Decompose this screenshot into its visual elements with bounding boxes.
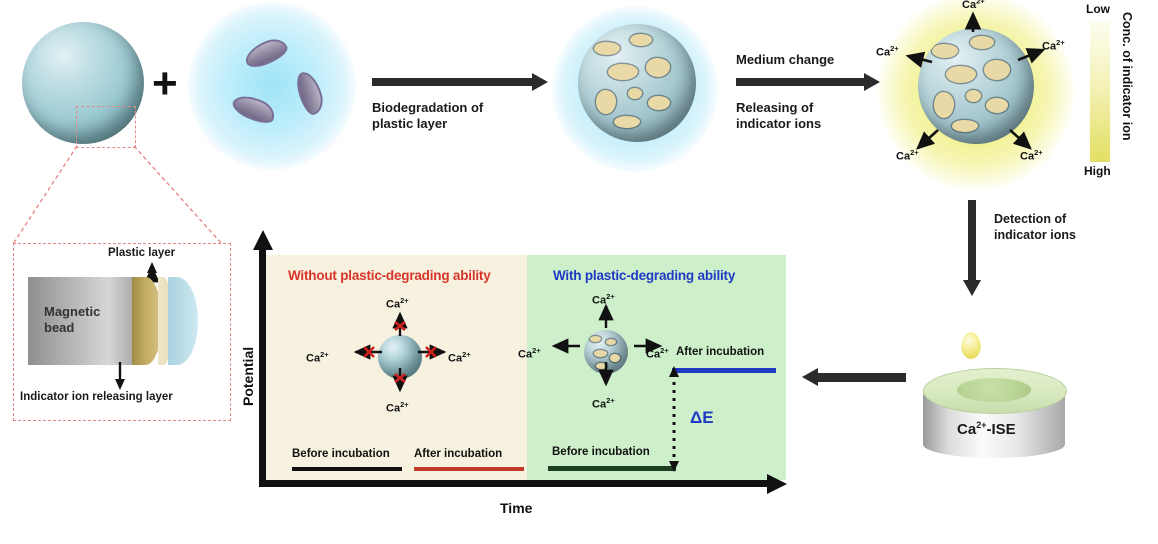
y-axis [259,248,266,480]
indicator-layer-pointer [108,360,132,390]
figure-canvas: + Biodegradation of plastic layer Medium… [0,0,1158,544]
ca-ion-label-bottom-right: Ca2+ [1020,148,1043,163]
legend-before-line-without [292,467,402,471]
legend-after-label-without: After incubation [414,448,502,460]
legend-after-label-with: After incubation [676,346,764,358]
bacteria-suspension [188,2,356,170]
after-incubation-level-line [672,368,776,373]
legend-before-label-with: Before incubation [552,446,650,458]
medium-change-arrow-shaft [736,78,864,86]
plastic-layer-label: Plastic layer [108,247,175,261]
panel-title-with: With plastic-degrading ability [553,268,735,283]
plastic-layer [168,277,198,365]
biodegradation-arrow-shaft [372,78,532,86]
ise-sensing-membrane [957,378,1031,402]
x-axis [259,480,767,487]
panel-title-without: Without plastic-degrading ability [288,268,491,283]
colorbar-axis-label: Conc. of indicator ion [1120,12,1134,140]
ise-to-chart-arrow-shaft [818,373,906,382]
ca-ion-label-left: Ca2+ [876,44,899,59]
releasing-label-line1: Releasing of [736,100,813,115]
medium-change-label: Medium change [736,52,834,67]
ise-label-superscript: 2+ [976,420,986,430]
colorbar-gradient [1090,22,1110,162]
y-axis-arrowhead [252,230,274,252]
biodegradation-label-line1: Biodegradation of [372,100,483,115]
bacterium [229,90,278,128]
legend-before-label-without: Before incubation [292,448,390,460]
inset-connector-lines [0,143,240,248]
biodegradation-label-line2: plastic layer [372,116,447,131]
indicator-ion-releasing-layer-label: Indicator ion releasing layer [20,391,173,405]
detection-label-line2: indicator ions [994,228,1076,243]
sample-droplet [961,332,981,359]
delta-e-label: ΔE [690,408,714,428]
inset-callout-box [76,106,136,148]
colorbar-low-label: Low [1086,2,1110,16]
detection-label-line1: Detection of [994,212,1066,227]
free-ion-arrows [510,288,670,406]
ise-label-suffix: -ISE [986,421,1015,438]
x-axis-label: Time [500,500,532,516]
ise-label: Ca2+-ISE [957,420,1016,438]
ise-to-chart-arrow-head [802,368,818,386]
x-axis-arrowhead [765,474,787,494]
legend-after-line-without [414,467,524,471]
colorbar-high-label: High [1084,164,1111,178]
magnetic-bead-label-line2: bead [44,320,74,335]
bacterium [293,69,326,117]
y-axis-label: Potential [240,347,256,406]
bacterium [241,35,290,72]
ca-ion-label-right: Ca2+ [1042,38,1065,53]
plus-sign: + [152,62,178,106]
delta-e-arrow [662,366,686,472]
magnetic-bead-label-line1: Magnetic [44,304,100,319]
detection-arrow-shaft [968,200,976,282]
before-incubation-level-line [548,466,676,471]
releasing-label-line2: indicator ions [736,116,821,131]
blocked-ion-arrows [300,292,470,412]
detection-arrow-head [963,280,981,296]
ca-ion-label-bottom-left: Ca2+ [896,148,919,163]
degraded-bead-middle [578,24,696,142]
biodegradation-arrow-head [532,73,548,91]
ise-label-prefix: Ca [957,421,976,438]
